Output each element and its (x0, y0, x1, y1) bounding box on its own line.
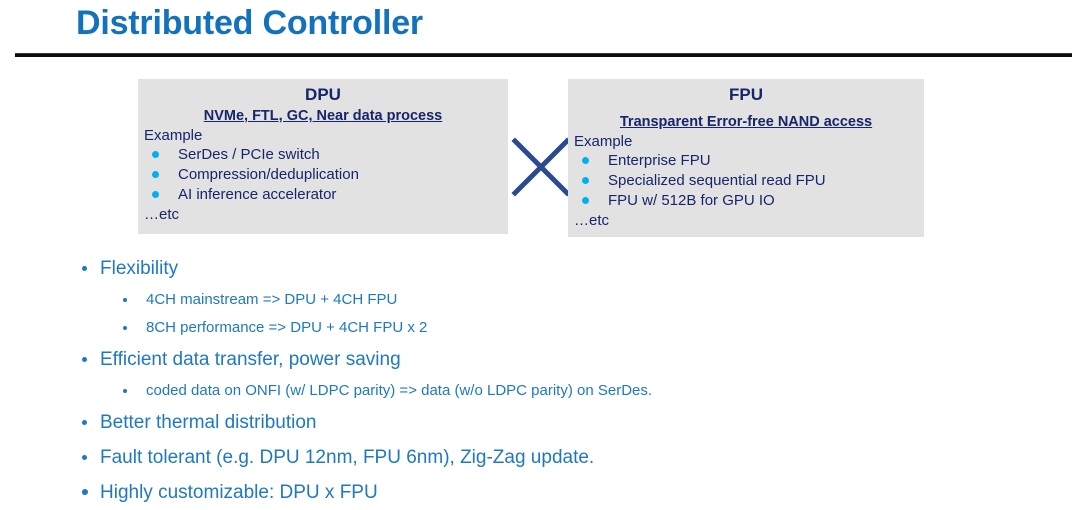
list-item-label: Compression/deduplication (178, 166, 359, 183)
panel-fpu-subtitle: Transparent Error-free NAND access (568, 113, 924, 131)
panel-fpu: FPU Transparent Error-free NAND access E… (568, 79, 924, 237)
bullet-label: coded data on ONFI (w/ LDPC parity) => d… (146, 382, 652, 399)
bullet-flexibility: Flexibility (70, 251, 1030, 286)
bullet-label: Highly customizable: DPU x FPU (100, 482, 378, 503)
bullet-dot-icon (82, 455, 87, 460)
list-item-label: SerDes / PCIe switch (178, 146, 320, 163)
panel-fpu-title: FPU (568, 85, 924, 105)
list-item: Enterprise FPU (568, 151, 924, 171)
panel-dpu-etc: …etc (138, 205, 508, 224)
bullet-8ch-performance: 8CH performance => DPU + 4CH FPU x 2 (70, 314, 1030, 342)
bullet-label: Fault tolerant (e.g. DPU 12nm, FPU 6nm),… (100, 447, 594, 468)
bullet-dot-icon (152, 151, 159, 158)
panel-dpu-list: SerDes / PCIe switch Compression/dedupli… (138, 145, 508, 205)
bullet-highly-customizable: Highly customizable: DPU x FPU (70, 475, 1030, 510)
bullet-dot-icon (123, 326, 127, 330)
bullet-label: Better thermal distribution (100, 412, 317, 433)
panel-fpu-example-label: Example (568, 132, 924, 151)
panel-dpu: DPU NVMe, FTL, GC, Near data process Exa… (138, 79, 508, 234)
panel-dpu-subtitle: NVMe, FTL, GC, Near data process (138, 107, 508, 125)
bullet-label: 8CH performance => DPU + 4CH FPU x 2 (146, 319, 427, 336)
panel-dpu-title: DPU (138, 85, 508, 105)
feature-bullet-list: Flexibility 4CH mainstream => DPU + 4CH … (70, 251, 1030, 510)
bullet-dot-icon (82, 357, 87, 362)
page-title: Distributed Controller (76, 2, 423, 44)
list-item: FPU w/ 512B for GPU IO (568, 191, 924, 211)
panel-dpu-example-label: Example (138, 126, 508, 145)
list-item-label: Specialized sequential read FPU (608, 172, 826, 189)
list-item: Specialized sequential read FPU (568, 171, 924, 191)
bullet-better-thermal: Better thermal distribution (70, 405, 1030, 440)
title-divider-rule (15, 53, 1072, 57)
bullet-dot-icon (152, 191, 159, 198)
list-item-label: Enterprise FPU (608, 152, 711, 169)
bullet-dot-icon (582, 157, 589, 164)
bullet-coded-data-onfi: coded data on ONFI (w/ LDPC parity) => d… (70, 377, 1030, 405)
bullet-dot-icon (123, 298, 127, 302)
list-item: SerDes / PCIe switch (138, 145, 508, 165)
bullet-dot-icon (582, 177, 589, 184)
bullet-fault-tolerant: Fault tolerant (e.g. DPU 12nm, FPU 6nm),… (70, 440, 1030, 475)
list-item: AI inference accelerator (138, 185, 508, 205)
bullet-dot-icon (582, 197, 589, 204)
bullet-efficient-data-transfer: Efficient data transfer, power saving (70, 342, 1030, 377)
list-item: Compression/deduplication (138, 165, 508, 185)
bullet-dot-icon (82, 420, 87, 425)
panel-fpu-etc: …etc (568, 211, 924, 230)
bullet-label: Flexibility (100, 258, 178, 279)
bullet-dot-icon (82, 266, 87, 271)
bullet-label: 4CH mainstream => DPU + 4CH FPU (146, 291, 397, 308)
bullet-4ch-mainstream: 4CH mainstream => DPU + 4CH FPU (70, 286, 1030, 314)
bullet-dot-icon (123, 389, 127, 393)
list-item-label: FPU w/ 512B for GPU IO (608, 192, 775, 209)
bullet-dot-icon-clipped (82, 489, 88, 495)
list-item-label: AI inference accelerator (178, 186, 336, 203)
bullet-label: Efficient data transfer, power saving (100, 349, 401, 370)
panel-fpu-list: Enterprise FPU Specialized sequential re… (568, 151, 924, 211)
bullet-dot-icon (152, 171, 159, 178)
x-cross-icon (510, 136, 572, 198)
